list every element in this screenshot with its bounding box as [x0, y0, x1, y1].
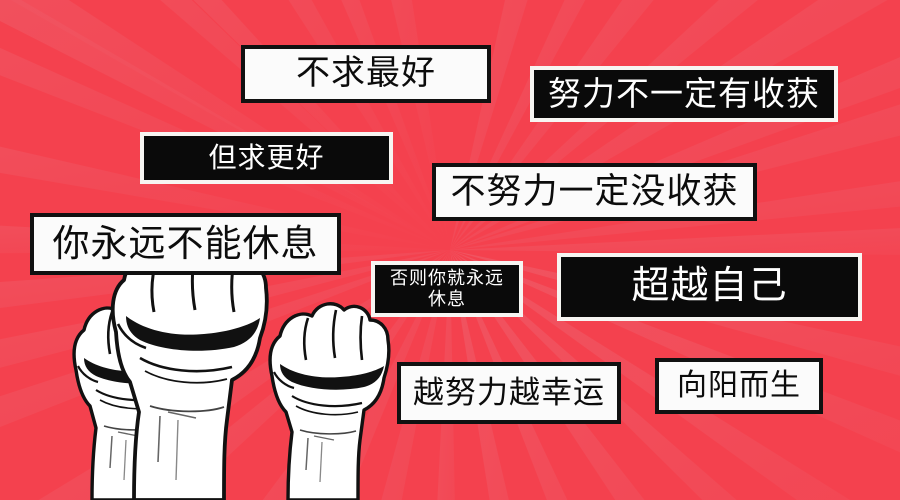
slogan-box-ni-yong-yuan-bu-neng-xiu-xi: 你永远不能休息 — [30, 213, 341, 275]
slogan-text: 否则你就永远 休息 — [375, 268, 519, 309]
slogan-box-bu-nu-li-yi-ding-mei-shou-huo: 不努力一定没收获 — [432, 163, 757, 221]
fist-right — [270, 304, 389, 500]
slogan-text: 向阳而生 — [659, 369, 819, 404]
slogan-box-xiang-yang-er-sheng: 向阳而生 — [655, 358, 823, 414]
slogan-text: 但求更好 — [144, 142, 389, 174]
slogan-box-nu-li-bu-yi-ding-you-shou-huo: 努力不一定有收获 — [530, 66, 838, 122]
slogan-text: 你永远不能休息 — [34, 223, 337, 266]
fist-center — [113, 240, 267, 500]
slogan-text: 不求最好 — [245, 54, 487, 93]
slogan-box-yue-nu-li-yue-xing-yun: 越努力越幸运 — [397, 362, 621, 424]
slogan-box-fou-ze-ni-jiu-yong-yuan-xiu-xi: 否则你就永远 休息 — [371, 261, 523, 317]
slogan-text: 不努力一定没收获 — [436, 172, 753, 212]
slogan-box-dan-qiu-geng-hao: 但求更好 — [140, 132, 393, 184]
slogan-text: 越努力越幸运 — [401, 375, 617, 411]
slogan-text: 努力不一定有收获 — [534, 75, 834, 113]
slogan-text: 超越自己 — [561, 265, 858, 309]
three-raised-fists-illustration — [0, 240, 420, 500]
poster-canvas: 不求最好 努力不一定有收获 但求更好 不努力一定没收获 你永远不能休息 否则你就… — [0, 0, 900, 500]
slogan-box-chao-yue-zi-ji: 超越自己 — [557, 253, 862, 321]
slogan-box-bu-qiu-zui-hao: 不求最好 — [241, 45, 491, 103]
